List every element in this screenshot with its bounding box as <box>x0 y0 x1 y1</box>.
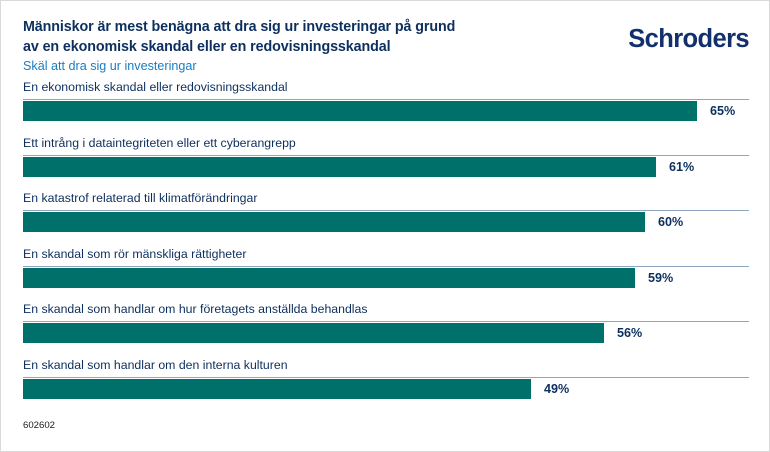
chart-bar <box>23 268 635 288</box>
chart-bar-value: 49% <box>544 380 569 398</box>
chart-row-rule <box>23 266 749 267</box>
chart-row-track: 56% <box>23 321 749 345</box>
page-title-line2: av en ekonomisk skandal eller en redovis… <box>23 37 543 57</box>
chart-row-rule <box>23 321 749 322</box>
chart-row: En skandal som rör mänskliga rättigheter… <box>1 246 770 298</box>
chart-bar-value: 61% <box>669 158 694 176</box>
chart-row-track: 49% <box>23 377 749 401</box>
chart-row: En katastrof relaterad till klimatföränd… <box>1 190 770 242</box>
chart-row-label: En skandal som handlar om hur företagets… <box>23 301 368 317</box>
chart-row-label: En skandal som handlar om den interna ku… <box>23 357 288 373</box>
chart-row-rule <box>23 210 749 211</box>
chart-row-rule <box>23 99 749 100</box>
chart-row: En skandal som handlar om den interna ku… <box>1 357 770 409</box>
chart-bar <box>23 323 604 343</box>
chart-bar <box>23 157 656 177</box>
chart-row-track: 60% <box>23 210 749 234</box>
chart-bar <box>23 212 645 232</box>
reference-number: 602602 <box>23 420 55 432</box>
chart-row-rule <box>23 155 749 156</box>
bar-chart: En ekonomisk skandal eller redovisningss… <box>1 79 770 409</box>
chart-row-label: En katastrof relaterad till klimatföränd… <box>23 190 257 206</box>
chart-row-label: Ett intrång i dataintegriteten eller ett… <box>23 135 296 151</box>
chart-row-track: 59% <box>23 266 749 290</box>
page-title: Människor är mest benägna att dra sig ur… <box>23 17 543 57</box>
page-header: Människor är mest benägna att dra sig ur… <box>1 1 770 79</box>
chart-bar <box>23 101 697 121</box>
chart-row-track: 65% <box>23 99 749 123</box>
page-subtitle: Skäl att dra sig ur investeringar <box>23 58 197 75</box>
schroders-logo: Schroders <box>628 24 749 54</box>
chart-row: En skandal som handlar om hur företagets… <box>1 301 770 353</box>
chart-page: Människor är mest benägna att dra sig ur… <box>0 0 770 452</box>
chart-row-track: 61% <box>23 155 749 179</box>
chart-bar-value: 60% <box>658 213 683 231</box>
chart-bar <box>23 379 531 399</box>
page-title-line1: Människor är mest benägna att dra sig ur… <box>23 19 455 35</box>
chart-row-label: En skandal som rör mänskliga rättigheter <box>23 246 247 262</box>
chart-bar-value: 59% <box>648 269 673 287</box>
chart-bar-value: 65% <box>710 102 735 120</box>
chart-row: Ett intrång i dataintegriteten eller ett… <box>1 135 770 187</box>
chart-row-rule <box>23 377 749 378</box>
chart-row-label: En ekonomisk skandal eller redovisningss… <box>23 79 288 95</box>
chart-bar-value: 56% <box>617 324 642 342</box>
chart-row: En ekonomisk skandal eller redovisningss… <box>1 79 770 131</box>
